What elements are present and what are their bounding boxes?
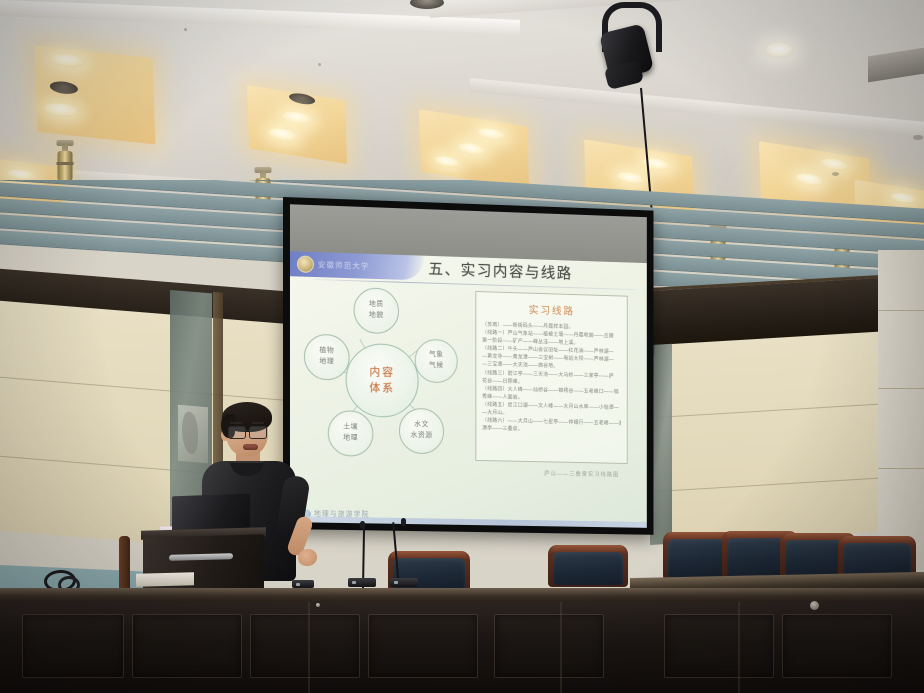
diagram-center-line2: 体系: [369, 380, 395, 397]
university-name: 安徽师范大学: [318, 259, 370, 272]
wall-panel: [655, 330, 905, 545]
table-seam: [308, 602, 310, 693]
diagram-node-geology: 地质 地貌: [354, 287, 399, 334]
route-signature: 庐山——三叠泉实习线路图: [544, 469, 619, 478]
field-route-box: 实习线路 （苏南）——新街码头——丹霞样本园。 （线路一）芦山气象站——植被土壤…: [475, 291, 627, 464]
node-label-line2: 地理: [319, 357, 334, 368]
wireless-receiver[interactable]: [390, 578, 418, 587]
ceiling-fixture-dot: [318, 63, 321, 66]
recessed-downlight: [763, 42, 795, 58]
node-label-line2: 气候: [429, 361, 444, 372]
ceiling-fixture-dot: [832, 172, 839, 176]
ceiling-light-panel: [419, 109, 529, 189]
table-knob[interactable]: [810, 601, 819, 610]
node-label-line2: 地貌: [369, 311, 384, 322]
slide-brand-banner: 安徽师范大学: [290, 251, 424, 280]
table-front-panel: [0, 602, 924, 693]
presentation-slide: 安徽师范大学 五、实习内容与线路 内容 体系 地质 地貌: [290, 251, 647, 528]
university-seal-icon: [297, 255, 314, 273]
route-box-title: 实习线路: [482, 300, 621, 319]
diagram-node-soil: 土壤 地理: [328, 410, 374, 457]
table-seam: [560, 602, 562, 693]
microphone-head: [360, 521, 365, 529]
projection-screen: 安徽师范大学 五、实习内容与线路 内容 体系 地质 地貌: [283, 197, 653, 535]
ceiling-fixture-dot: [184, 28, 187, 31]
wireless-receiver[interactable]: [348, 578, 376, 587]
ceiling-fixture-dot: [913, 135, 923, 140]
microphone-head: [401, 518, 406, 526]
presenter-mouth: [243, 444, 258, 450]
node-label-line1: 水文: [414, 420, 429, 431]
ceiling-light-panel: [247, 85, 347, 164]
ceiling-beam: [430, 0, 924, 18]
diagram-node-hydrology: 水文 水资源: [399, 408, 444, 455]
slide-title: 五、实习内容与线路: [428, 258, 572, 283]
diagram-node-climate: 气象 气候: [415, 339, 458, 384]
node-label-line1: 土壤: [343, 423, 358, 434]
ceiling-light-panel: [35, 46, 156, 145]
stage-spotlight-icon: [594, 2, 664, 94]
ceiling-beam: [470, 78, 924, 137]
node-label-line1: 植物: [319, 346, 334, 357]
ceiling-rail-mount: [868, 48, 924, 83]
lecture-hall-photo: 安徽师范大学 五、实习内容与线路 内容 体系 地质 地貌: [0, 0, 924, 693]
slide-bottom-bar: [290, 516, 647, 528]
diagram-node-vegetation: 植物 地理: [304, 334, 350, 381]
wireless-receiver[interactable]: [292, 580, 314, 588]
node-label-line2: 水资源: [411, 431, 433, 442]
table-papers: [136, 572, 194, 587]
content-system-diagram: 内容 体系 地质 地貌 气象 气候 水文 水资源 土壤 地理: [298, 283, 466, 476]
eyeglasses-icon: [228, 426, 270, 437]
chair[interactable]: [548, 545, 628, 587]
node-label-line2: 地理: [343, 433, 358, 444]
diagram-center-node: 内容 体系: [346, 343, 419, 418]
table-seam: [738, 602, 740, 693]
table-knob[interactable]: [316, 603, 320, 607]
presenter-eyebrow: [252, 422, 264, 424]
node-label-line1: 地质: [369, 300, 384, 311]
diagram-center-line1: 内容: [369, 364, 395, 381]
wall-panel: [878, 250, 924, 570]
node-label-line1: 气象: [429, 350, 444, 361]
presenter-eyebrow: [230, 422, 242, 424]
presenter-hand: [298, 549, 317, 566]
